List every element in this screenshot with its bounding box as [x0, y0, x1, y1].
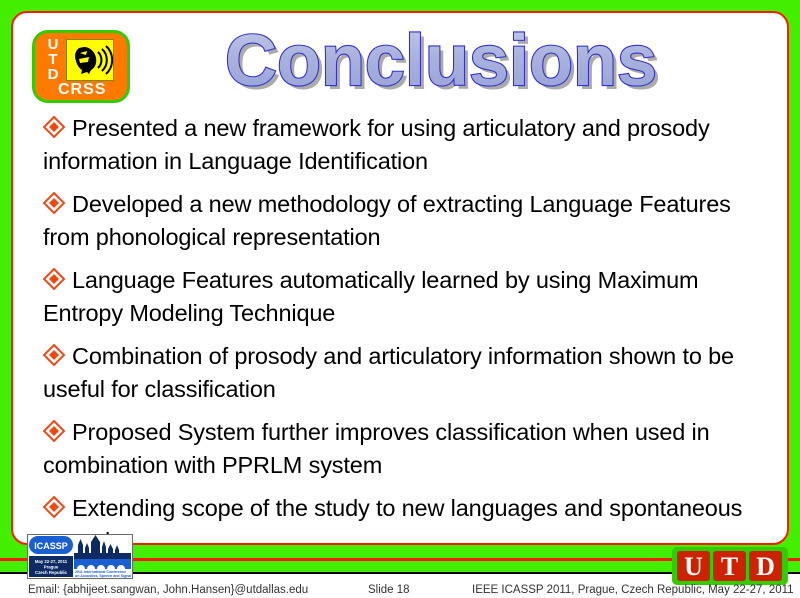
bullet-item-2: Developed a new methodology of extractin… — [43, 189, 767, 253]
diamond-bullet-icon — [43, 419, 69, 450]
icassp-logo-name: ICASSP — [34, 541, 68, 551]
bullet-item-3: Language Features automatically learned … — [43, 265, 767, 329]
utd-logo-letter-d: D — [756, 552, 775, 581]
bullet-list: Presented a new framework for using arti… — [43, 113, 767, 545]
bullet-text-4: Combination of prosody and articulatory … — [43, 343, 734, 402]
title-text: Conclusions — [225, 21, 657, 101]
footer-conference: IEEE ICASSP 2011, Prague, Czech Republic… — [472, 584, 794, 597]
footer-slide-number: Slide 18 — [368, 584, 410, 597]
utd-logo-letter-t: T — [721, 552, 738, 581]
crss-logo-letter-t: T — [42, 52, 64, 67]
speaking-head-icon — [67, 40, 113, 80]
icassp-logo-svg: ICASSP May 22-27, 2011 Prague — [28, 535, 132, 578]
icassp-logo-tagline-2: on Acoustics, Speech and Signal Processi… — [75, 574, 132, 578]
bullet-text-3: Language Features automatically learned … — [43, 267, 698, 326]
icassp-logo-country: Czech Republic — [35, 570, 68, 575]
slide-canvas: U T D CRSS — [0, 0, 800, 598]
footer-email: Email: {abhijeet.sangwan, John.Hansen}@u… — [28, 584, 308, 597]
title-svg: Conclusions Conclusions — [163, 19, 723, 105]
bullet-text-2: Developed a new methodology of extractin… — [43, 191, 731, 250]
crss-logo-letter-d: D — [42, 67, 64, 82]
bullet-text-6: Extending scope of the study to new lang… — [43, 495, 742, 545]
slide-title-wordart: Conclusions Conclusions — [163, 19, 723, 105]
crss-logo-crss-label: CRSS — [58, 81, 130, 98]
bullet-text-5: Proposed System further improves classif… — [43, 419, 710, 478]
bullet-item-4: Combination of prosody and articulatory … — [43, 341, 767, 405]
icassp-logo: ICASSP May 22-27, 2011 Prague — [27, 534, 133, 579]
diamond-bullet-icon — [43, 267, 69, 298]
crss-logo-letter-u: U — [42, 37, 64, 52]
bullet-text-1: Presented a new framework for using arti… — [43, 115, 710, 174]
charles-bridge-icon — [74, 557, 131, 569]
crss-logo-utd-letters: U T D — [42, 37, 64, 82]
bullet-item-5: Proposed System further improves classif… — [43, 417, 767, 481]
slide-content-panel: U T D CRSS — [11, 11, 789, 545]
diamond-bullet-icon — [43, 115, 69, 146]
diamond-bullet-icon — [43, 343, 69, 374]
diamond-bullet-icon — [43, 495, 69, 526]
bullet-item-1: Presented a new framework for using arti… — [43, 113, 767, 177]
icassp-logo-city: Prague — [44, 565, 59, 570]
utd-logo: U T D — [672, 547, 788, 585]
bullet-item-6: Extending scope of the study to new lang… — [43, 493, 767, 545]
utd-logo-letter-u: U — [684, 552, 703, 581]
diamond-bullet-icon — [43, 191, 69, 222]
crss-logo: U T D CRSS — [32, 30, 130, 103]
icassp-logo-dates: May 22-27, 2011 — [35, 559, 68, 564]
utd-logo-svg: U T D — [672, 547, 788, 585]
crss-logo-speech-panel — [66, 39, 114, 81]
